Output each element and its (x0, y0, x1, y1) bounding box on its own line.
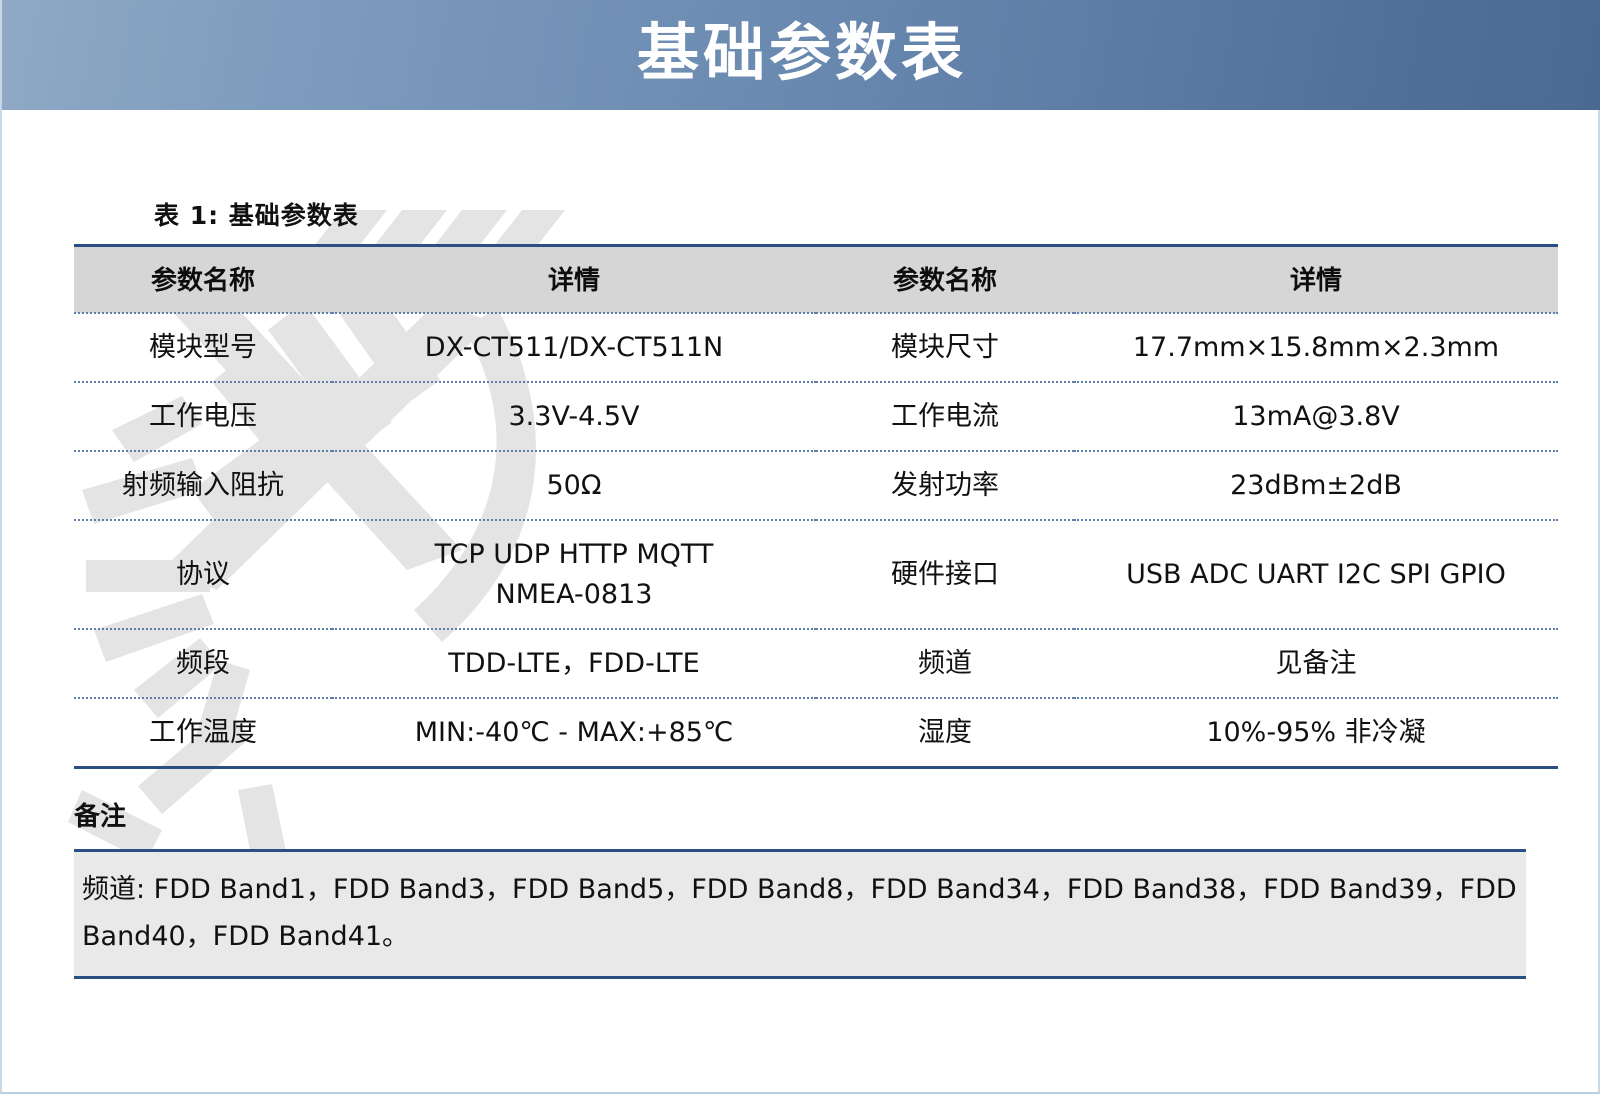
param-name: 射频输入阻抗 (74, 451, 332, 520)
content-area: 表 1: 基础参数表 参数名称 详情 参数名称 详情 模块型号 DX-CT511… (74, 196, 1526, 979)
param-value: 23dBm±2dB (1074, 451, 1558, 520)
param-name: 频段 (74, 629, 332, 698)
param-name: 频道 (816, 629, 1074, 698)
param-name: 工作温度 (74, 698, 332, 768)
param-value: 50Ω (332, 451, 816, 520)
column-header-param-name-left: 参数名称 (74, 246, 332, 314)
param-value: TDD-LTE，FDD-LTE (332, 629, 816, 698)
param-value-line-1: TCP UDP HTTP MQTT (338, 535, 810, 574)
column-header-param-name-right: 参数名称 (816, 246, 1074, 314)
param-value: 10%-95% 非冷凝 (1074, 698, 1558, 768)
param-name: 硬件接口 (816, 520, 1074, 628)
column-header-detail-right: 详情 (1074, 246, 1558, 314)
table-row: 工作电压 3.3V-4.5V 工作电流 13mA@3.8V (74, 382, 1558, 451)
param-value: USB ADC UART I2C SPI GPIO (1074, 520, 1558, 628)
spec-table-head: 参数名称 详情 参数名称 详情 (74, 246, 1558, 314)
table-row: 射频输入阻抗 50Ω 发射功率 23dBm±2dB (74, 451, 1558, 520)
param-value: 17.7mm×15.8mm×2.3mm (1074, 313, 1558, 382)
param-value: DX-CT511/DX-CT511N (332, 313, 816, 382)
page-title: 基础参数表 (637, 22, 967, 84)
notes-box: 频道: FDD Band1，FDD Band3，FDD Band5，FDD Ba… (74, 849, 1526, 980)
page-banner: 基础参数表 (2, 0, 1600, 110)
table-row: 模块型号 DX-CT511/DX-CT511N 模块尺寸 17.7mm×15.8… (74, 313, 1558, 382)
param-name: 湿度 (816, 698, 1074, 768)
table-row: 协议 TCP UDP HTTP MQTT NMEA-0813 硬件接口 USB … (74, 520, 1558, 628)
slide-page: 基础参数表 (0, 0, 1600, 1094)
param-value: 13mA@3.8V (1074, 382, 1558, 451)
param-name: 模块型号 (74, 313, 332, 382)
table-caption: 表 1: 基础参数表 (154, 196, 1526, 232)
spec-table-body: 模块型号 DX-CT511/DX-CT511N 模块尺寸 17.7mm×15.8… (74, 313, 1558, 767)
param-name: 工作电流 (816, 382, 1074, 451)
table-row: 工作温度 MIN:-40℃ - MAX:+85℃ 湿度 10%-95% 非冷凝 (74, 698, 1558, 768)
param-name: 模块尺寸 (816, 313, 1074, 382)
table-row: 频段 TDD-LTE，FDD-LTE 频道 见备注 (74, 629, 1558, 698)
column-header-detail-left: 详情 (332, 246, 816, 314)
param-value: 见备注 (1074, 629, 1558, 698)
param-value-line-2: NMEA-0813 (338, 575, 810, 614)
param-name: 协议 (74, 520, 332, 628)
table-header-row: 参数名称 详情 参数名称 详情 (74, 246, 1558, 314)
notes-heading: 备注 (74, 796, 1526, 833)
param-value: TCP UDP HTTP MQTT NMEA-0813 (332, 520, 816, 628)
param-value: MIN:-40℃ - MAX:+85℃ (332, 698, 816, 768)
param-name: 工作电压 (74, 382, 332, 451)
spec-table: 参数名称 详情 参数名称 详情 模块型号 DX-CT511/DX-CT511N … (74, 244, 1558, 769)
param-value: 3.3V-4.5V (332, 382, 816, 451)
param-name: 发射功率 (816, 451, 1074, 520)
